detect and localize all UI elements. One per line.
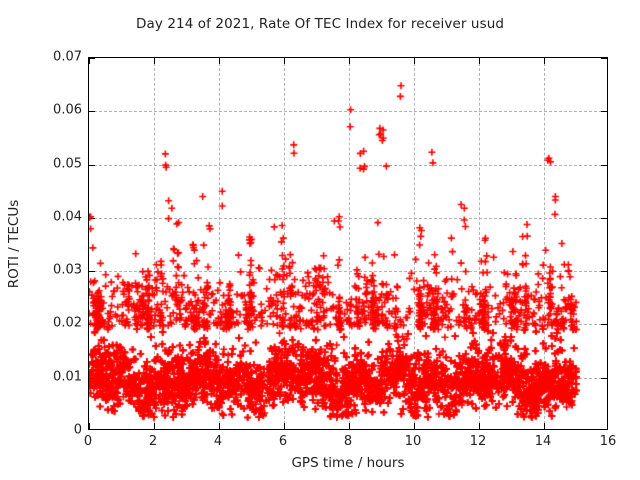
x-axis-tick-label: 4: [214, 434, 222, 449]
x-axis-tick-label: 12: [470, 434, 487, 449]
y-axis-tick-label: 0.04: [53, 209, 82, 224]
y-axis-tick-label: 0.05: [53, 156, 82, 171]
x-axis-title: GPS time / hours: [88, 455, 608, 471]
x-axis-tick-label: 14: [535, 434, 552, 449]
x-axis-tick-label: 16: [600, 434, 617, 449]
x-axis-tick-label: 8: [344, 434, 352, 449]
y-axis-tick-label: 0.06: [53, 103, 82, 118]
scatter-points-layer: [89, 58, 608, 430]
plot-area: [88, 57, 608, 430]
x-axis-tick-label: 2: [149, 434, 157, 449]
y-axis-tick-label: 0.02: [53, 316, 82, 331]
y-axis-title-wrapper: ROTI / TECUs: [2, 57, 26, 430]
x-axis-tick-label: 0: [84, 434, 92, 449]
page-title: Day 214 of 2021, Rate Of TEC Index for r…: [0, 16, 640, 32]
y-axis-tick-label: 0.01: [53, 369, 82, 384]
y-axis-tick-label: 0.03: [53, 263, 82, 278]
x-axis-tick-label: 6: [279, 434, 287, 449]
x-axis-tick-labels: 0246810121416: [88, 434, 608, 454]
y-axis-title: ROTI / TECUs: [6, 199, 22, 287]
y-axis-tick-label: 0: [74, 423, 82, 438]
y-axis-tick-label: 0.07: [53, 50, 82, 65]
roti-scatter-figure: Day 214 of 2021, Rate Of TEC Index for r…: [0, 0, 640, 480]
x-axis-tick-label: 10: [405, 434, 422, 449]
